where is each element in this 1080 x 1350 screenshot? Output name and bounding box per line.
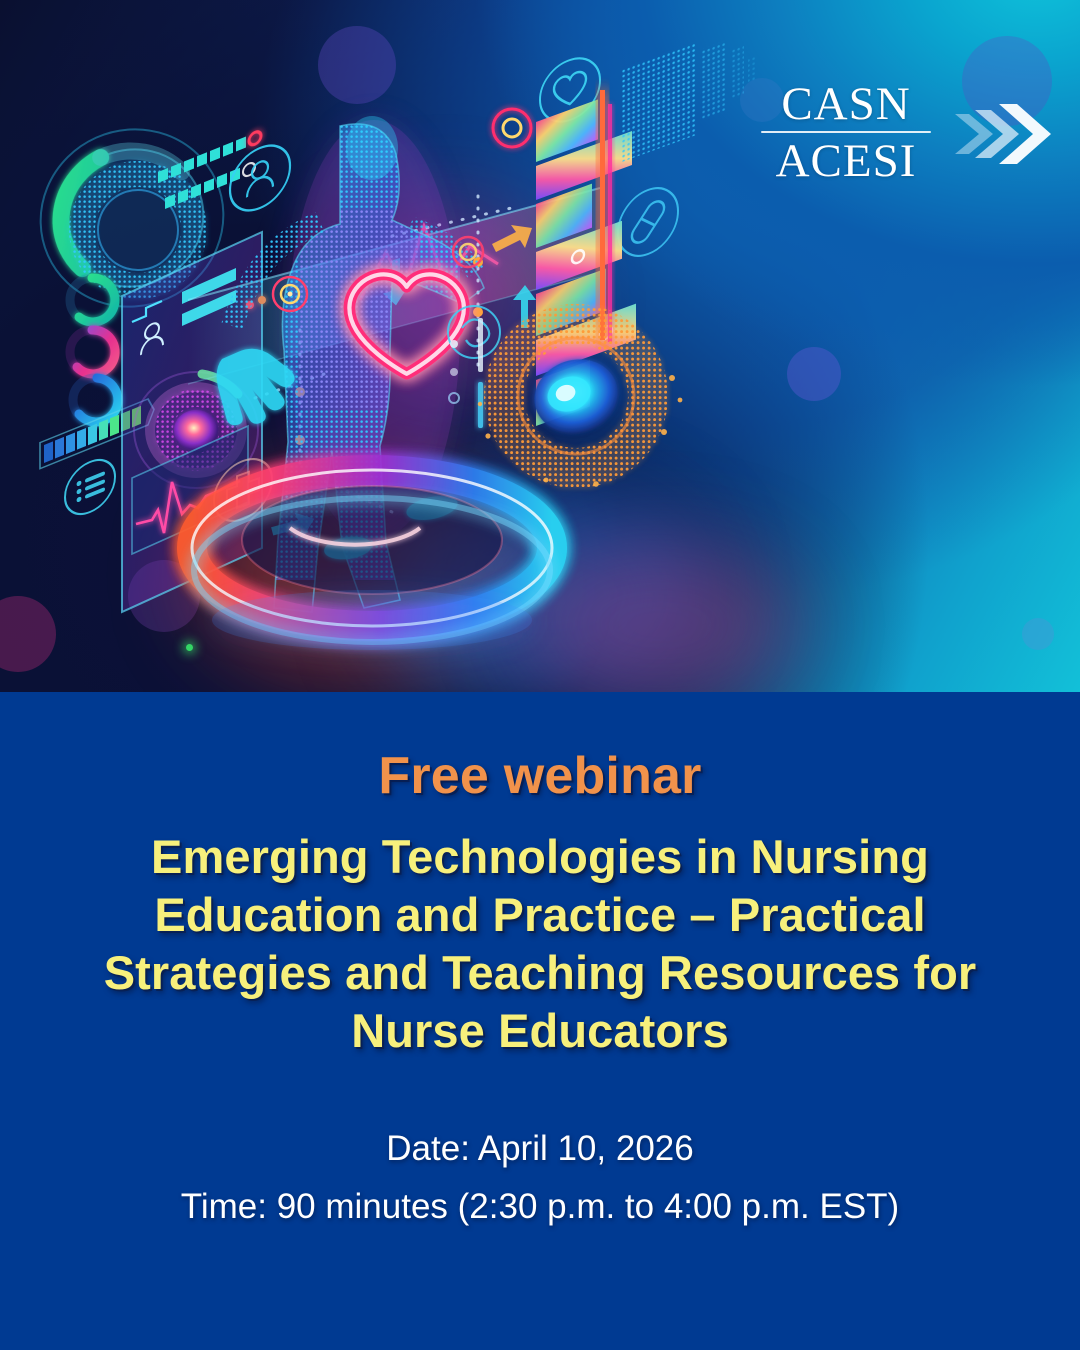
hero-illustration: CASN ACESI: [0, 0, 1080, 692]
webinar-title: Emerging Technologies in Nursing Educati…: [0, 828, 1080, 1060]
webinar-date: Date: April 10, 2026: [0, 1120, 1080, 1178]
hand: [217, 349, 295, 425]
triple-chevron-right-icon: [953, 100, 1051, 168]
webinar-info-panel: Free webinar Emerging Technologies in Nu…: [0, 692, 1080, 1350]
pixel-grid: [622, 21, 756, 162]
platform-reflection: [212, 590, 532, 650]
webinar-time: Time: 90 minutes (2:30 p.m. to 4:00 p.m.…: [0, 1178, 1080, 1236]
title-line: Emerging Technologies in Nursing: [151, 830, 929, 883]
title-line: Strategies and Teaching Resources for: [104, 946, 977, 999]
webinar-meta: Date: April 10, 2026 Time: 90 minutes (2…: [0, 1120, 1080, 1236]
logo-line-casn: CASN: [757, 78, 935, 130]
eyebrow-free-webinar: Free webinar: [0, 746, 1080, 806]
logo-line-acesi: ACESI: [757, 135, 935, 187]
casn-acesi-logo[interactable]: CASN ACESI: [757, 78, 1057, 190]
title-line: Nurse Educators: [351, 1004, 729, 1057]
list-icon: [65, 452, 115, 522]
target-ring-icon: [493, 109, 531, 147]
pill-capsule-icon: [618, 179, 678, 265]
title-line: Education and Practice – Practical: [154, 888, 925, 941]
logo-divider: [761, 131, 931, 133]
